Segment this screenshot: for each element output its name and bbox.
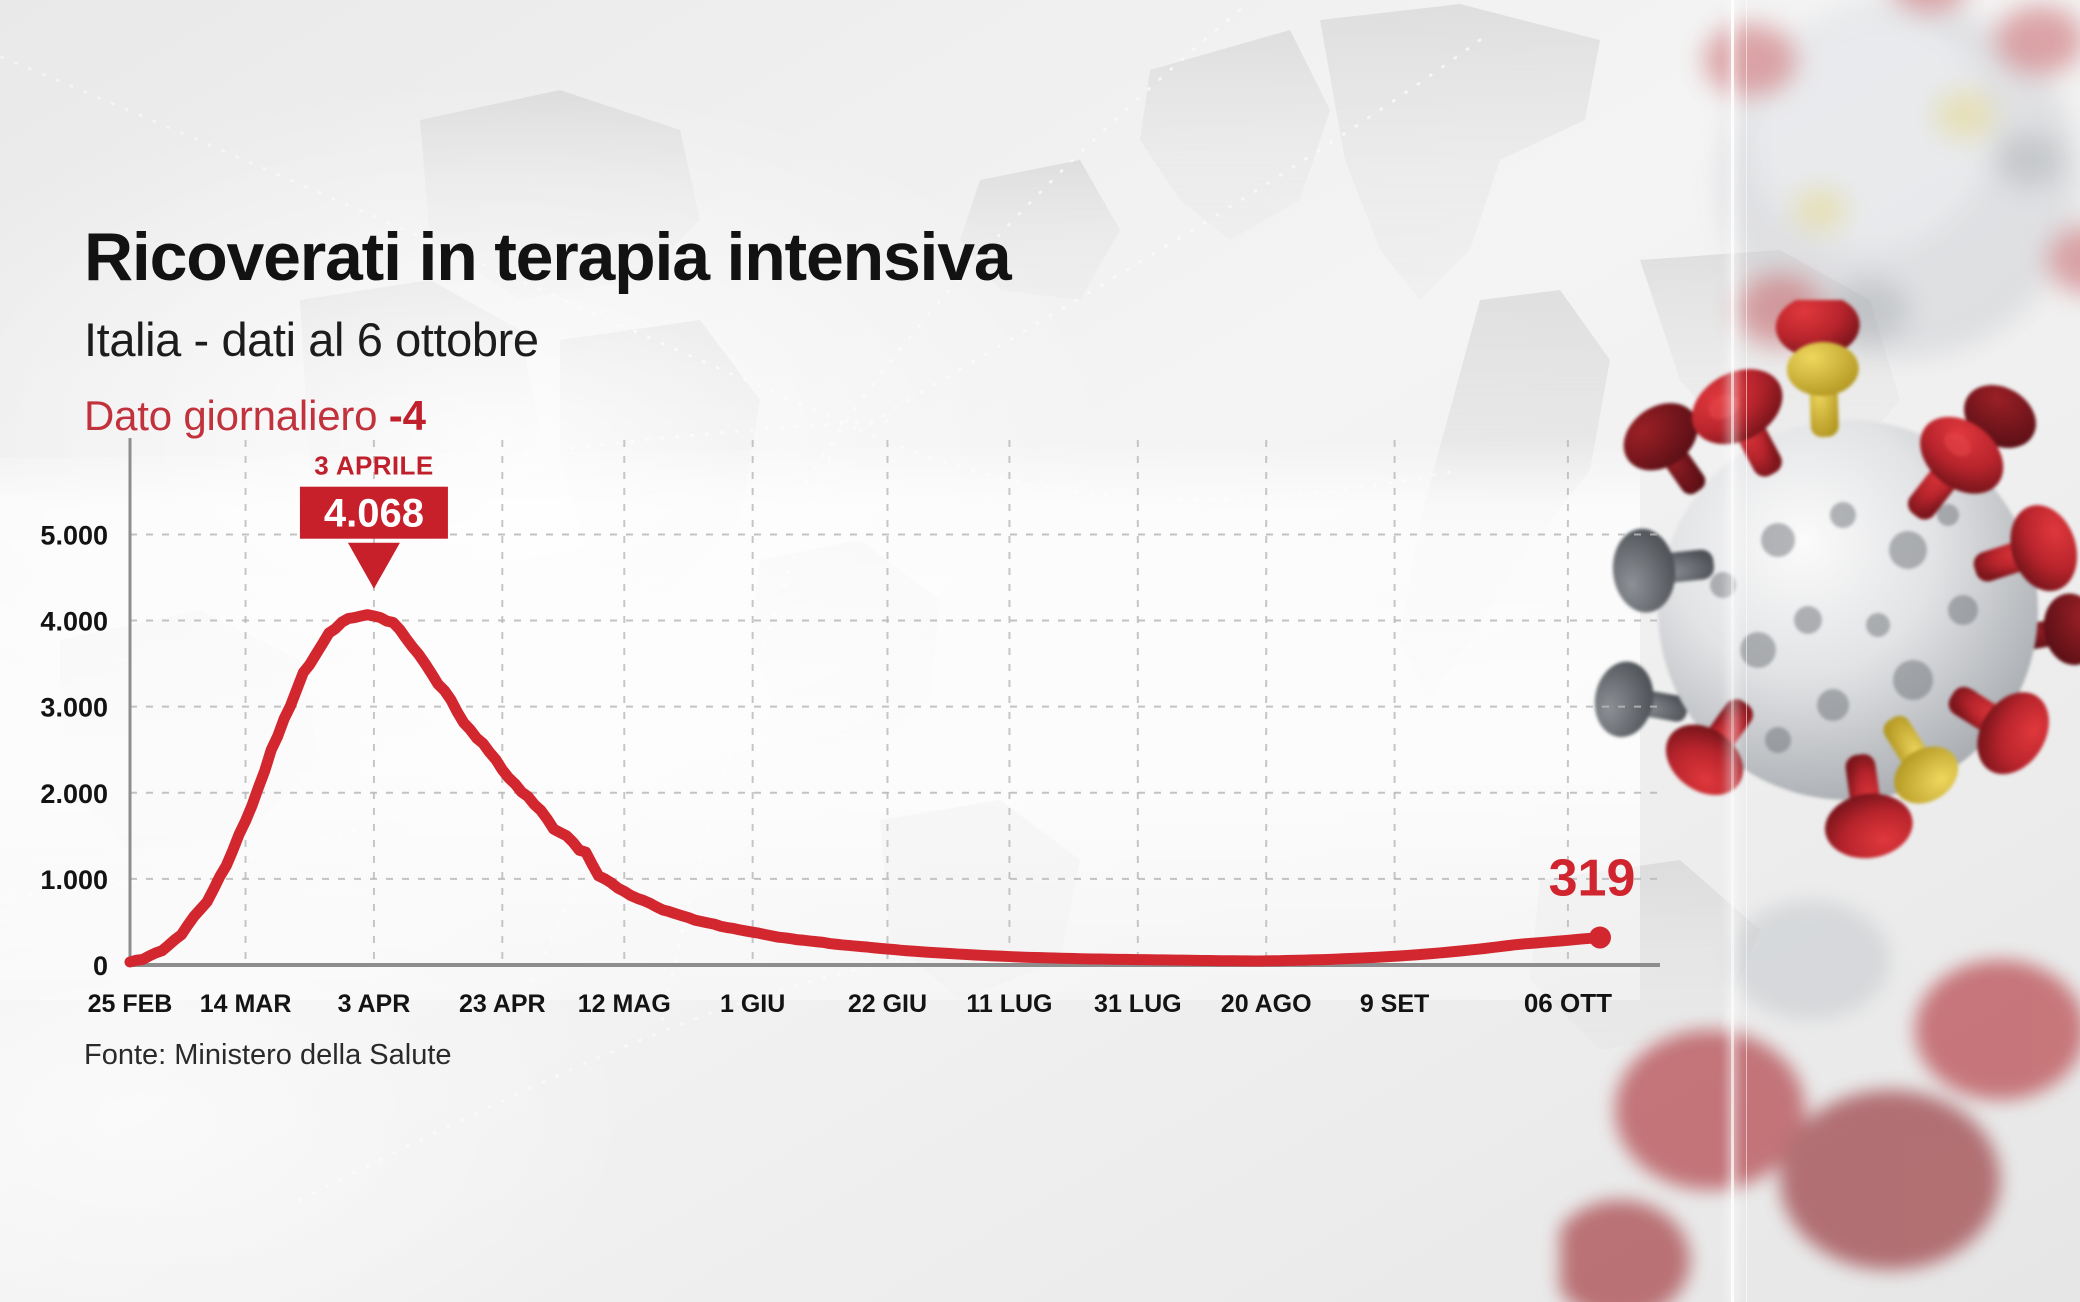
x-tick-label: 3 APR (338, 990, 411, 1018)
peak-callout: 3 APRILE4.068 (300, 451, 448, 589)
x-tick-label: 31 LUG (1094, 990, 1182, 1018)
y-tick-label: 3.000 (40, 693, 108, 723)
infographic-stage: Ricoverati in terapia intensiva Italia -… (0, 0, 2080, 1302)
y-tick-label: 2.000 (40, 779, 108, 809)
x-tick-label: 9 SET (1360, 990, 1429, 1018)
x-tick-label: 12 MAG (578, 990, 671, 1018)
y-tick-label: 1.000 (40, 865, 108, 895)
line-chart: 01.0002.0003.0004.0005.000 25 FEB14 MAR3… (0, 0, 2080, 1302)
x-axis-tick-labels: 25 FEB14 MAR3 APR23 APR12 MAG1 GIU22 GIU… (88, 988, 1612, 1018)
y-tick-label: 5.000 (40, 520, 108, 550)
peak-value-label: 4.068 (324, 492, 424, 536)
x-tick-label: 23 APR (459, 990, 546, 1018)
series-line (130, 615, 1611, 962)
y-axis-tick-labels: 01.0002.0003.0004.0005.000 (40, 520, 108, 981)
x-tick-label: 1 GIU (720, 990, 785, 1018)
end-value-label: 319 (1549, 850, 1636, 908)
x-tick-label: 14 MAR (200, 990, 292, 1018)
end-value-text: 319 (1549, 850, 1636, 908)
x-tick-label: 20 AGO (1221, 990, 1312, 1018)
y-tick-label: 0 (93, 951, 108, 981)
peak-date-label: 3 APRILE (314, 451, 433, 481)
x-tick-label: 11 LUG (966, 990, 1052, 1018)
x-tick-label: 22 GIU (848, 990, 927, 1018)
y-tick-label: 4.000 (40, 607, 108, 637)
x-tick-label: 25 FEB (88, 990, 173, 1018)
x-tick-label: 06 OTT (1524, 988, 1612, 1018)
